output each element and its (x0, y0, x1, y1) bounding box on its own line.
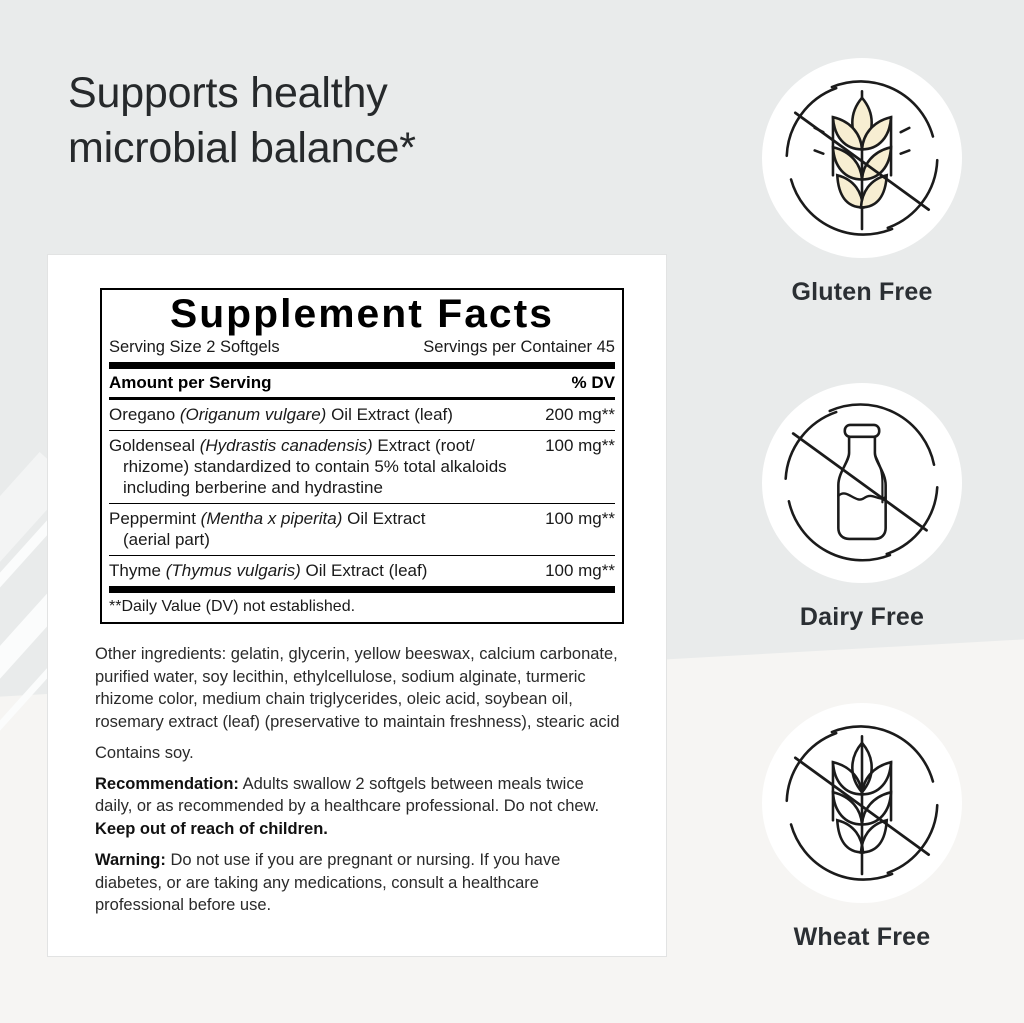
ingredient-amount: 100 mg** (545, 435, 615, 456)
serving-size: Serving Size 2 Softgels (109, 336, 280, 358)
ingredient-row: Thyme (Thymus vulgaris) Oil Extract (lea… (109, 556, 615, 586)
ingredient-name-pre: Peppermint (109, 509, 201, 528)
badge-gluten-free: Gluten Free (700, 58, 1024, 307)
rule-thick (109, 362, 615, 369)
ingredient-row: Oregano (Origanum vulgare) Oil Extract (… (109, 400, 615, 430)
percent-dv-label: % DV (572, 371, 615, 395)
ingredient-amount: 100 mg** (545, 560, 615, 581)
badge-wheat-free: Wheat Free (700, 703, 1024, 952)
no-wheat-filled-icon (776, 72, 948, 244)
ingredient-detail: (aerial part) (109, 529, 537, 550)
amount-per-serving-label: Amount per Serving (109, 371, 271, 395)
recommendation-paragraph: Recommendation: Adults swallow 2 softgel… (95, 773, 625, 841)
other-ingredients-text: Other ingredients: gelatin, glycerin, ye… (95, 643, 625, 733)
ingredient-detail: rhizome) standardized to contain 5% tota… (109, 456, 537, 498)
ingredient-name-pre: Goldenseal (109, 436, 200, 455)
contains-allergen-text: Contains soy. (95, 742, 625, 765)
ingredient-row: Peppermint (Mentha x piperita) Oil Extra… (109, 504, 615, 555)
ingredient-scientific-name: (Thymus vulgaris) (166, 561, 301, 580)
rule-thick (109, 586, 615, 593)
badge-dairy-free: Dairy Free (700, 383, 1024, 632)
ingredient-name-pre: Thyme (109, 561, 166, 580)
headline-line-1: Supports healthy (68, 66, 688, 121)
badge-label: Wheat Free (700, 923, 1024, 952)
serving-info-row: Serving Size 2 Softgels Servings per Con… (109, 336, 615, 362)
supplement-facts-box: Supplement Facts Serving Size 2 Softgels… (100, 288, 624, 624)
ingredient-name: Thyme (Thymus vulgaris) Oil Extract (lea… (109, 560, 537, 581)
ingredient-name-pre: Oregano (109, 405, 180, 424)
ingredient-amount: 200 mg** (545, 404, 615, 425)
ingredient-name-post: Extract (root/ (373, 436, 475, 455)
warning-paragraph: Warning: Do not use if you are pregnant … (95, 849, 625, 917)
ingredient-scientific-name: (Hydrastis canadensis) (200, 436, 373, 455)
servings-per-container: Servings per Container 45 (423, 336, 615, 358)
recommendation-label: Recommendation: (95, 775, 239, 793)
ingredient-name-post: Oil Extract (342, 509, 425, 528)
ingredient-scientific-name: (Mentha x piperita) (201, 509, 343, 528)
badge-label: Gluten Free (700, 278, 1024, 307)
amount-per-serving-header: Amount per Serving % DV (109, 369, 615, 397)
no-milk-bottle-icon (776, 397, 948, 569)
ingredient-scientific-name: (Origanum vulgare) (180, 405, 326, 424)
ingredient-name-post: Oil Extract (leaf) (326, 405, 453, 424)
ingredient-name: Goldenseal (Hydrastis canadensis) Extrac… (109, 435, 537, 498)
supplement-facts-title: Supplement Facts (104, 292, 620, 336)
ingredient-row: Goldenseal (Hydrastis canadensis) Extrac… (109, 431, 615, 503)
badge-disc (762, 383, 962, 583)
keep-out-of-reach-text: Keep out of reach of children. (95, 820, 328, 838)
certification-badge-column: Gluten Free (700, 0, 1024, 1023)
badge-disc (762, 58, 962, 258)
no-wheat-outline-icon (776, 717, 948, 889)
ingredient-name: Peppermint (Mentha x piperita) Oil Extra… (109, 508, 537, 550)
ingredient-name-post: Oil Extract (leaf) (301, 561, 428, 580)
warning-label: Warning: (95, 851, 166, 869)
badge-label: Dairy Free (700, 603, 1024, 632)
daily-value-footnote: **Daily Value (DV) not established. (109, 593, 615, 618)
badge-disc (762, 703, 962, 903)
headline-line-2: microbial balance* (68, 121, 688, 176)
ingredient-amount: 100 mg** (545, 508, 615, 529)
headline: Supports healthy microbial balance* (68, 66, 688, 176)
label-body-copy: Other ingredients: gelatin, glycerin, ye… (95, 643, 625, 926)
supplement-label-panel: Supplement Facts Serving Size 2 Softgels… (47, 254, 667, 957)
ingredient-name: Oregano (Origanum vulgare) Oil Extract (… (109, 404, 537, 425)
